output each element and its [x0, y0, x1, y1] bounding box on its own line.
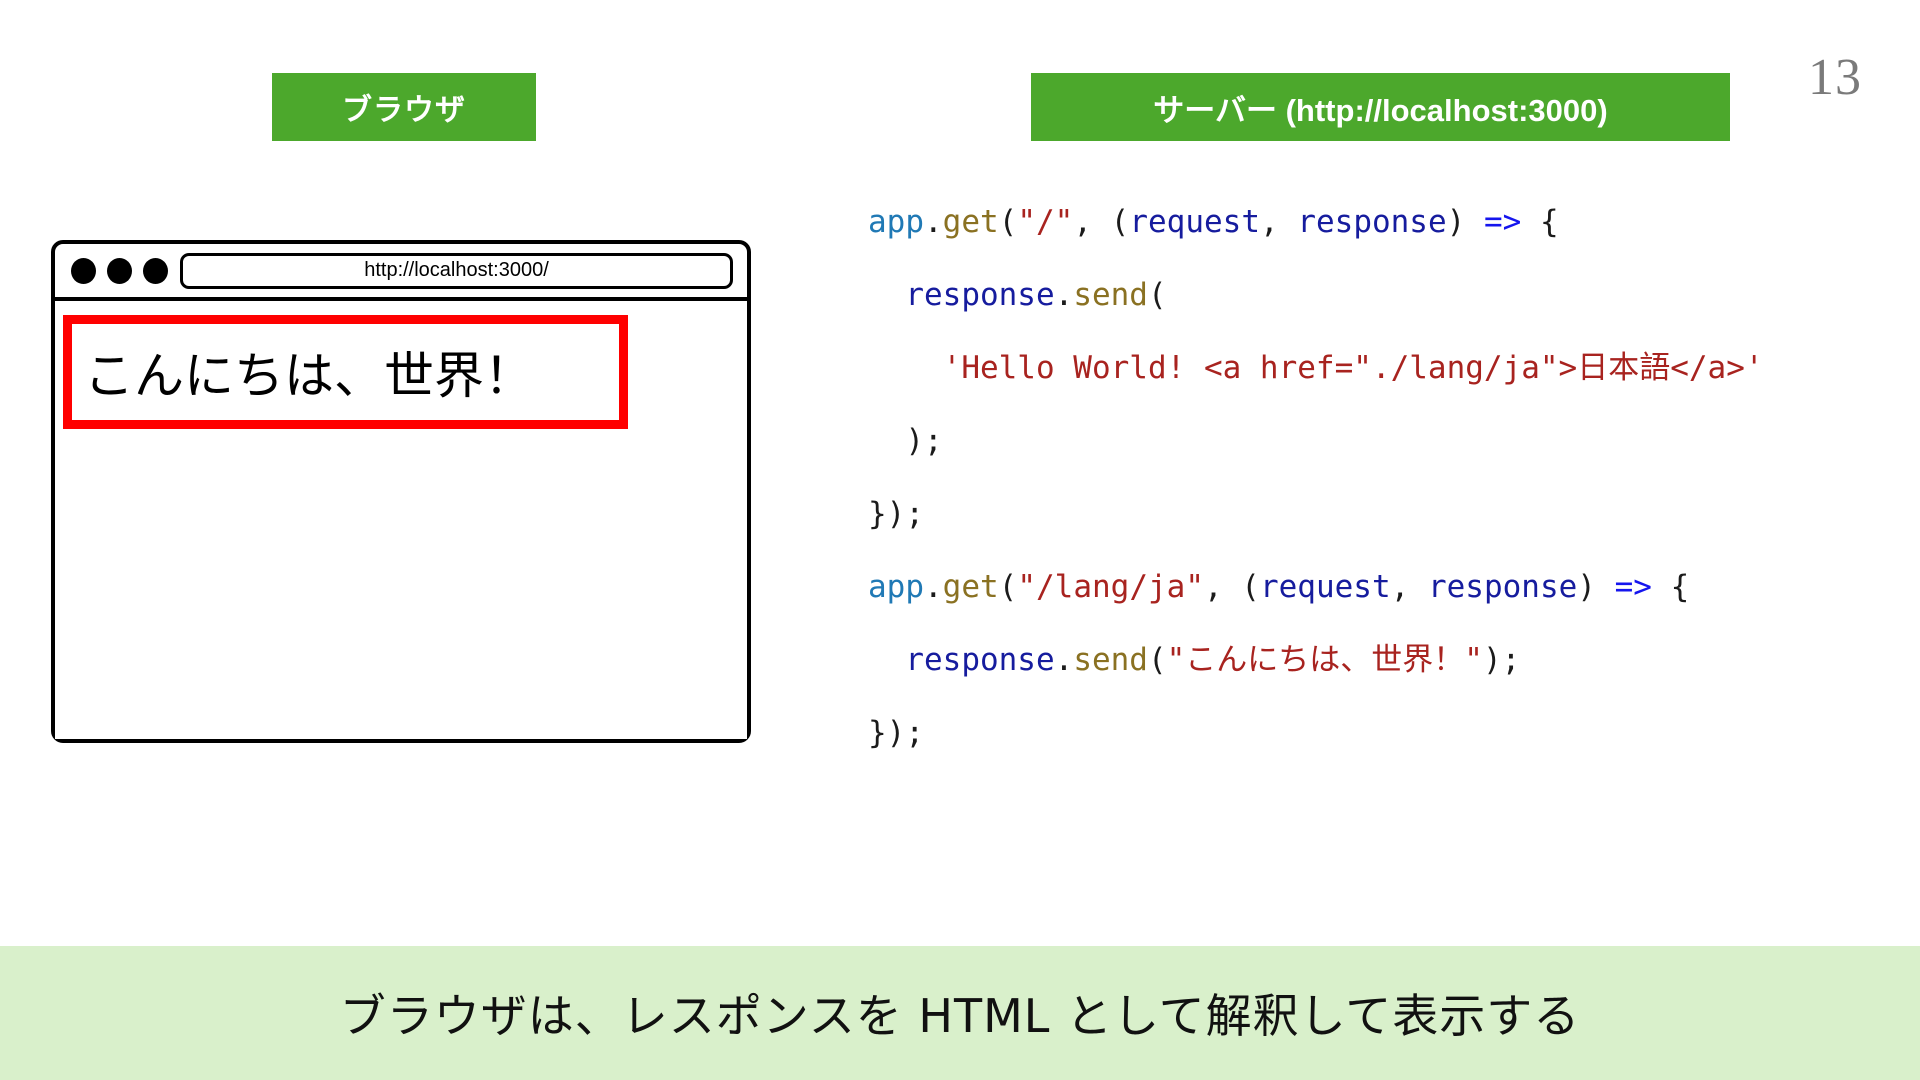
code-token: , — [1391, 569, 1428, 605]
page-number: 13 — [1808, 52, 1862, 104]
browser-window-mockup: http://localhost:3000/ こんにちは、世界！ — [51, 240, 751, 743]
code-token: ( — [1148, 277, 1167, 313]
code-token: . — [924, 569, 943, 605]
code-line: 'Hello World! <a href="./lang/ja">日本語</a… — [868, 332, 1868, 405]
code-token: response — [905, 642, 1054, 678]
code-line: }); — [868, 697, 1868, 770]
code-line: app.get("/lang/ja", (request, response) … — [868, 551, 1868, 624]
code-token — [868, 277, 905, 313]
server-code-block: app.get("/", (request, response) => { re… — [868, 186, 1868, 770]
code-line: response.send( — [868, 259, 1868, 332]
minimize-dot-icon[interactable] — [107, 258, 132, 284]
code-token: => — [1484, 204, 1521, 240]
caption-band: ブラウザは、レスポンスを HTML として解釈して表示する — [0, 946, 1920, 1080]
code-token: ); — [1483, 642, 1520, 678]
browser-chrome-bar: http://localhost:3000/ — [55, 244, 747, 301]
close-dot-icon[interactable] — [71, 258, 96, 284]
rendered-content-highlight: こんにちは、世界！ — [63, 315, 628, 429]
url-text: http://localhost:3000/ — [364, 259, 549, 282]
code-token: . — [1055, 277, 1074, 313]
code-token: ) — [1447, 204, 1484, 240]
code-token: => — [1615, 569, 1652, 605]
code-token: { — [1652, 569, 1689, 605]
code-token: ( — [999, 569, 1018, 605]
traffic-light-group — [71, 258, 168, 284]
badge-server: サーバー (http://localhost:3000) — [1031, 73, 1730, 141]
code-token — [868, 642, 905, 678]
code-line: }); — [868, 478, 1868, 551]
code-token: , ( — [1073, 204, 1129, 240]
code-token: ); — [868, 423, 943, 459]
code-token: , — [1260, 204, 1297, 240]
code-token: . — [1055, 642, 1074, 678]
code-token: { — [1521, 204, 1558, 240]
code-token: response — [1297, 204, 1446, 240]
code-token: }); — [868, 496, 924, 532]
code-line: ); — [868, 405, 1868, 478]
code-token — [868, 350, 943, 386]
code-token: . — [924, 204, 943, 240]
caption-text: ブラウザは、レスポンスを HTML として解釈して表示する — [340, 980, 1581, 1046]
code-token: ( — [999, 204, 1018, 240]
badge-browser: ブラウザ — [272, 73, 536, 141]
url-address-bar[interactable]: http://localhost:3000/ — [180, 253, 733, 289]
maximize-dot-icon[interactable] — [143, 258, 168, 284]
code-token: "/" — [1017, 204, 1073, 240]
code-line: response.send("こんにちは、世界！"); — [868, 624, 1868, 697]
code-token: app — [868, 204, 924, 240]
code-token: request — [1129, 204, 1260, 240]
code-token: app — [868, 569, 924, 605]
code-token: ) — [1577, 569, 1614, 605]
code-token: response — [905, 277, 1054, 313]
code-token: , ( — [1204, 569, 1260, 605]
code-token: request — [1260, 569, 1391, 605]
code-token: ( — [1148, 642, 1167, 678]
code-token: send — [1073, 642, 1148, 678]
code-token: response — [1428, 569, 1577, 605]
browser-viewport: こんにちは、世界！ — [55, 301, 747, 739]
rendered-page-text: こんにちは、世界！ — [84, 336, 534, 408]
code-token: "/lang/ja" — [1017, 569, 1204, 605]
code-token: 'Hello World! <a href="./lang/ja">日本語</a… — [943, 350, 1764, 386]
code-token: get — [943, 204, 999, 240]
code-token: "こんにちは、世界！" — [1167, 642, 1483, 678]
code-token: }); — [868, 715, 924, 751]
code-token: send — [1073, 277, 1148, 313]
code-line: app.get("/", (request, response) => { — [868, 186, 1868, 259]
code-token: get — [943, 569, 999, 605]
